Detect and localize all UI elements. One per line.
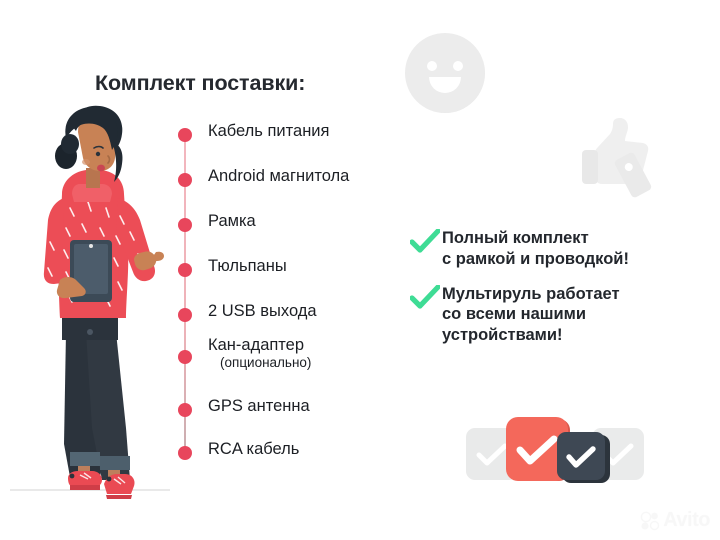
bullet-dot-icon <box>178 446 192 460</box>
bullet-dot-icon <box>178 263 192 277</box>
woman-pointing-with-tablet-illustration <box>8 104 172 522</box>
delivery-set-checklist: Кабель питания Android магнитола Рамка Т… <box>178 128 408 458</box>
bullet-dot-icon <box>178 403 192 417</box>
checkbox-cards-decoration <box>462 404 642 494</box>
bullet-dot-icon <box>178 350 192 364</box>
list-item-label: Кан-адаптер (опционально) <box>208 336 311 371</box>
smiley-face-icon <box>404 32 486 114</box>
bullet-dot-icon <box>178 173 192 187</box>
check-icon <box>410 285 440 311</box>
slide-canvas: Комплект поставки: Кабель питания Androi… <box>0 0 720 540</box>
thumbs-up-icon <box>576 112 662 198</box>
benefit-label: Мультируль работает со всеми нашими устр… <box>442 284 620 346</box>
bullet-dot-icon <box>178 218 192 232</box>
benefit-item: Мультируль работает со всеми нашими устр… <box>410 284 710 346</box>
list-item-primary-text: Кан-адаптер <box>208 336 304 354</box>
benefits-list: Полный комплект с рамкой и проводкой! Му… <box>410 228 710 360</box>
check-icon <box>410 229 440 255</box>
list-item-label: Кабель питания <box>208 122 329 140</box>
checkbox-checked-icon <box>557 432 605 480</box>
list-item-label: 2 USB выхода <box>208 302 317 320</box>
list-item-label: RCA кабель <box>208 440 299 458</box>
list-item-label: GPS антенна <box>208 397 310 415</box>
list-item-label: Рамка <box>208 212 256 230</box>
list-item-note: (опционально) <box>208 355 311 370</box>
page-title: Комплект поставки: <box>95 71 305 96</box>
bullet-dot-icon <box>178 308 192 322</box>
avito-watermark-text: Avito <box>663 509 710 532</box>
bullet-dot-icon <box>178 128 192 142</box>
benefit-label: Полный комплект с рамкой и проводкой! <box>442 228 629 270</box>
list-item-label: Android магнитола <box>208 167 349 185</box>
avito-watermark: Avito <box>640 509 710 532</box>
avito-logo-icon <box>640 511 660 531</box>
list-item-label: Тюльпаны <box>208 257 287 275</box>
benefit-item: Полный комплект с рамкой и проводкой! <box>410 228 710 270</box>
